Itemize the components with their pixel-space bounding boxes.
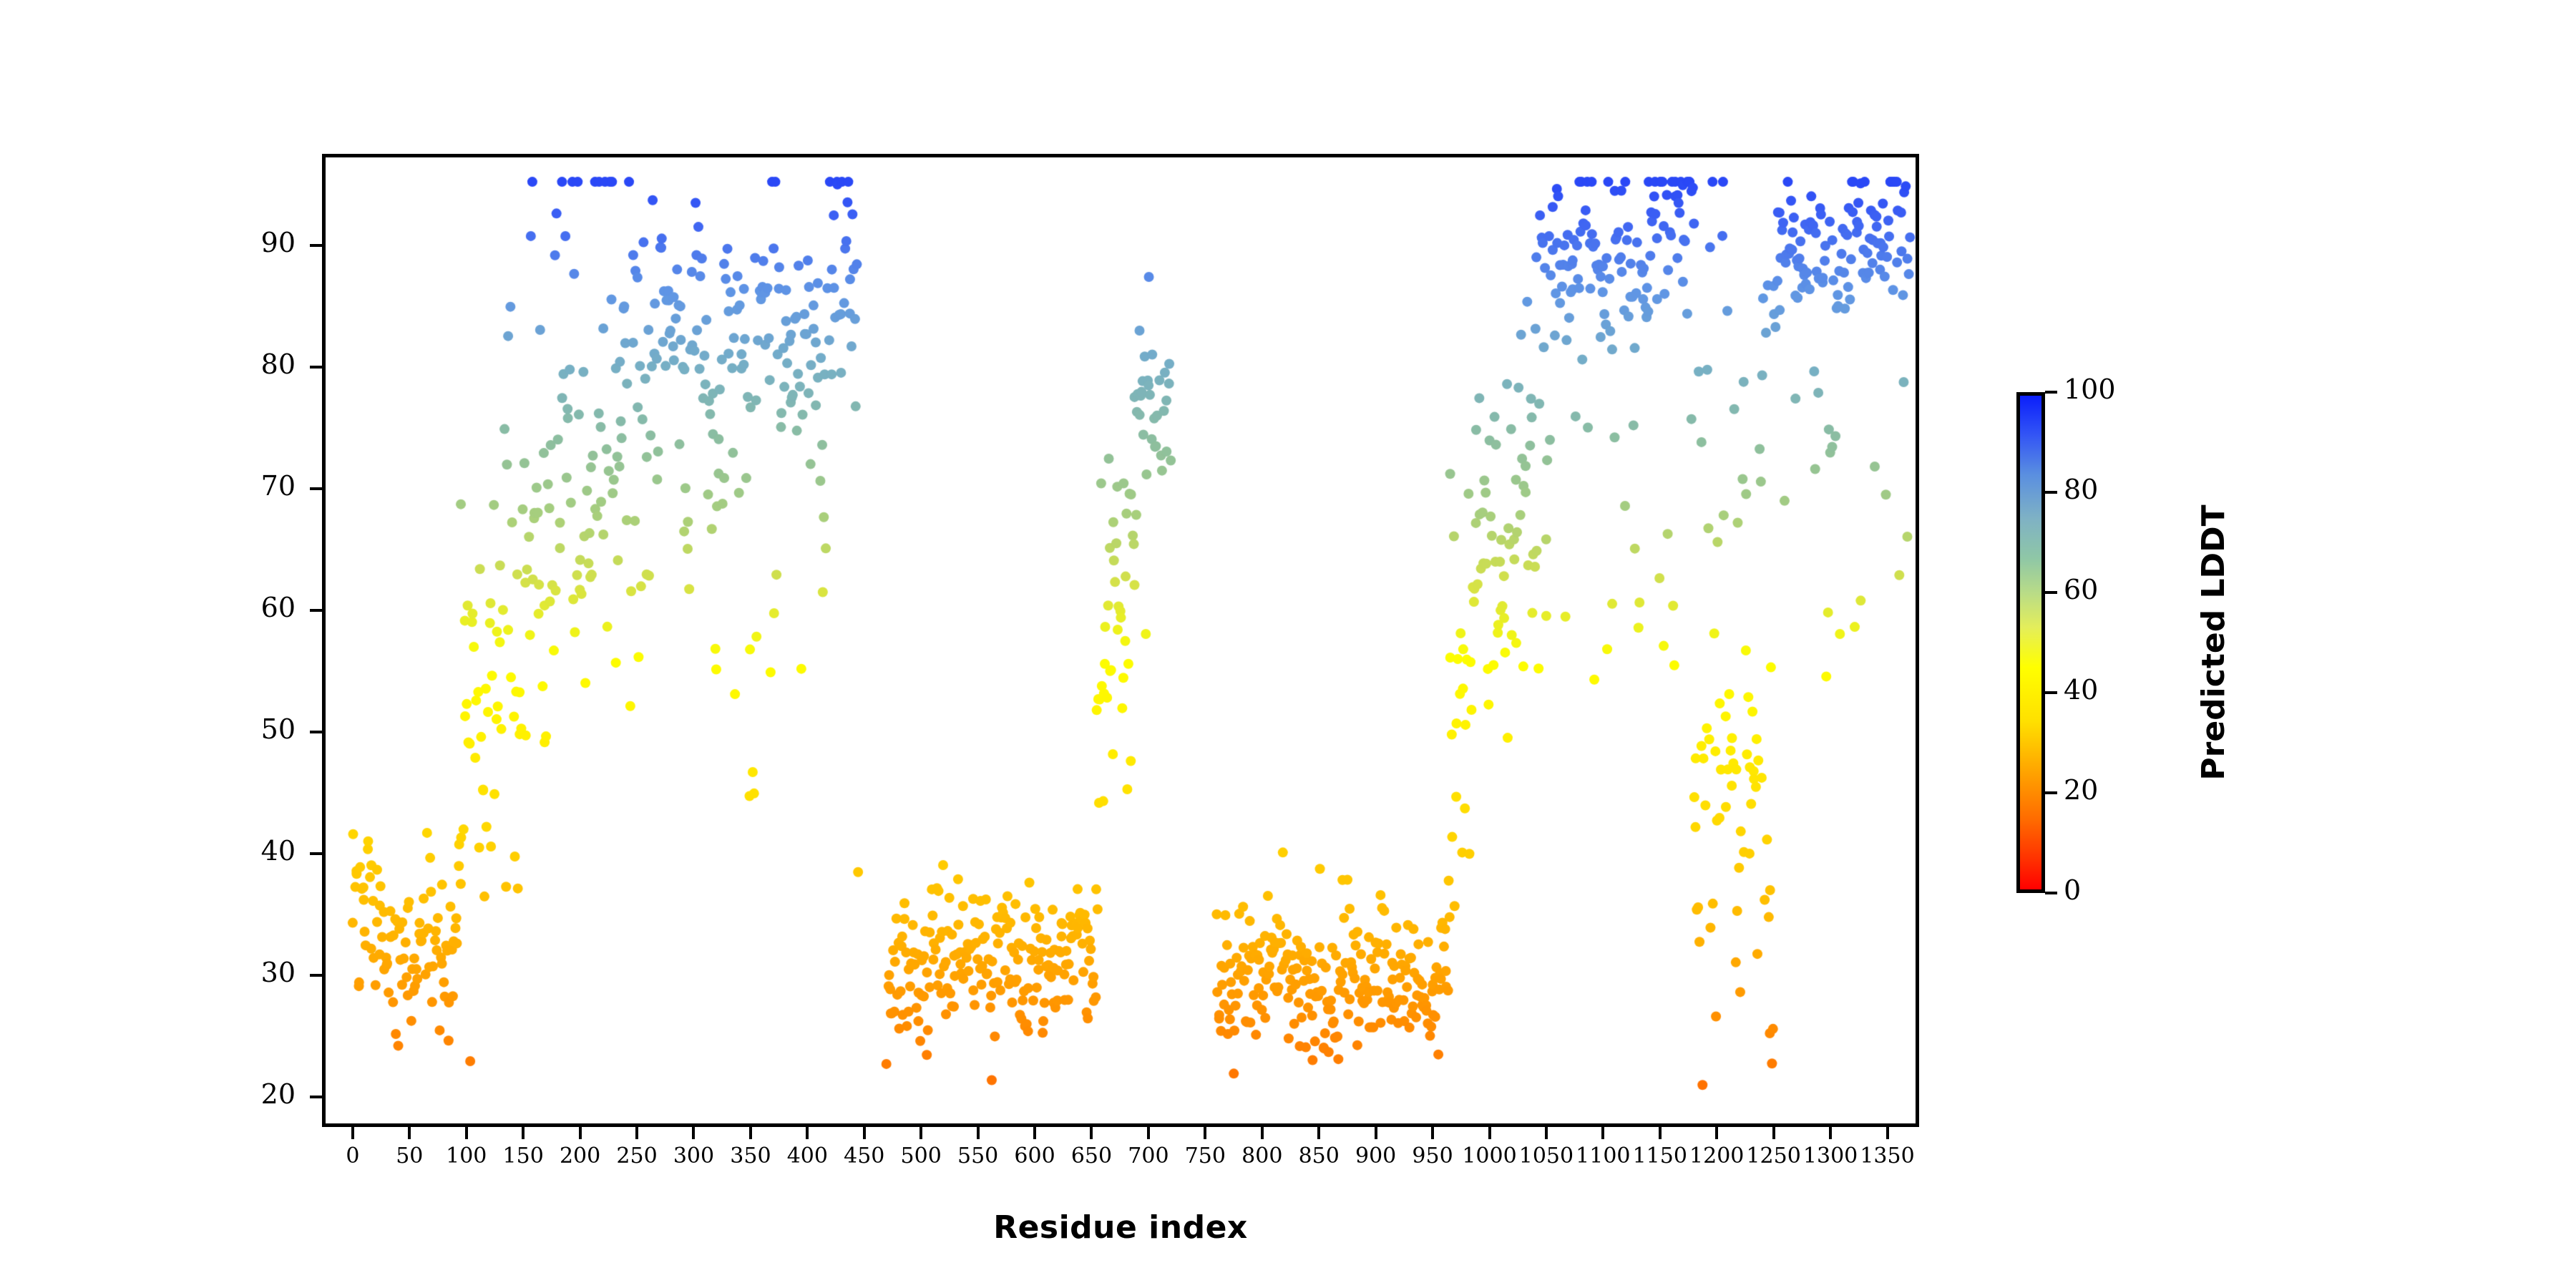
x-tick — [351, 1127, 354, 1139]
x-tick — [1772, 1127, 1775, 1139]
plot-area — [322, 154, 1919, 1127]
x-tick — [692, 1127, 695, 1139]
x-tick — [749, 1127, 752, 1139]
y-tick — [310, 731, 322, 733]
y-tick — [310, 244, 322, 247]
y-tick — [310, 852, 322, 855]
colorbar — [2016, 392, 2045, 893]
x-tick — [1090, 1127, 1093, 1139]
colorbar-tick — [2045, 391, 2057, 394]
y-tick-label: 50 — [203, 713, 296, 745]
colorbar-tick — [2045, 892, 2057, 894]
x-tick — [919, 1127, 922, 1139]
x-tick — [1886, 1127, 1889, 1139]
x-tick — [1545, 1127, 1548, 1139]
colorbar-tick — [2045, 491, 2057, 494]
y-tick-label: 40 — [203, 835, 296, 867]
x-tick — [465, 1127, 468, 1139]
colorbar-tick-label: 0 — [2064, 874, 2081, 906]
y-tick — [310, 1096, 322, 1098]
colorbar-tick-label: 40 — [2064, 674, 2098, 706]
y-tick — [310, 974, 322, 977]
x-tick — [1431, 1127, 1434, 1139]
colorbar-gradient — [2016, 392, 2045, 893]
colorbar-tick — [2045, 691, 2057, 694]
x-tick — [579, 1127, 582, 1139]
x-tick — [1488, 1127, 1491, 1139]
colorbar-title: Predicted LDDT — [2195, 392, 2232, 893]
x-tick — [1033, 1127, 1036, 1139]
colorbar-tick-label: 80 — [2064, 474, 2098, 505]
y-tick — [310, 366, 322, 369]
x-tick — [1715, 1127, 1718, 1139]
y-tick-label: 60 — [203, 592, 296, 623]
y-tick-label: 30 — [203, 957, 296, 988]
colorbar-tick-label: 20 — [2064, 774, 2098, 806]
x-tick — [522, 1127, 525, 1139]
x-tick — [1659, 1127, 1662, 1139]
x-tick — [1261, 1127, 1264, 1139]
x-tick — [863, 1127, 866, 1139]
y-tick-label: 70 — [203, 470, 296, 502]
colorbar-tick-label: 60 — [2064, 574, 2098, 605]
x-tick — [806, 1127, 809, 1139]
colorbar-tick — [2045, 791, 2057, 794]
x-tick — [635, 1127, 638, 1139]
x-tick-label: 1350 — [1845, 1143, 1931, 1169]
x-tick — [408, 1127, 411, 1139]
y-tick — [310, 487, 322, 490]
x-tick — [1147, 1127, 1150, 1139]
x-tick — [977, 1127, 980, 1139]
scatter-plot — [326, 157, 1916, 1123]
x-tick — [1829, 1127, 1832, 1139]
y-tick — [310, 609, 322, 612]
colorbar-tick — [2045, 591, 2057, 594]
x-axis-title: Residue index — [322, 1209, 1919, 1246]
y-tick-label: 90 — [203, 227, 296, 258]
colorbar-tick-label: 100 — [2064, 374, 2116, 405]
x-tick — [1601, 1127, 1604, 1139]
figure-canvas: 0501001502002503003504004505005506006507… — [0, 0, 2576, 1288]
y-tick-label: 80 — [203, 348, 296, 380]
x-tick — [1375, 1127, 1377, 1139]
x-tick — [1317, 1127, 1320, 1139]
x-tick — [1204, 1127, 1206, 1139]
y-tick-label: 20 — [203, 1078, 296, 1110]
